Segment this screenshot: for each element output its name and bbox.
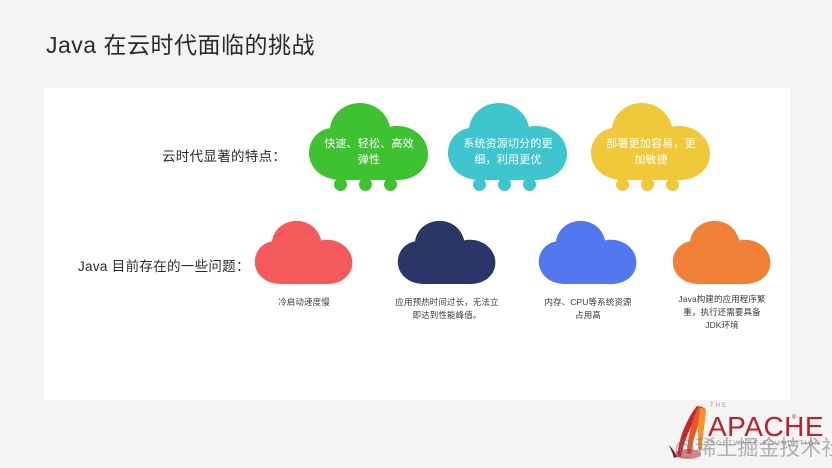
feature-cloud-resource-partition[interactable]: 系统资源切分的更 细，利用更优 — [447, 102, 569, 180]
problems-row-label: Java 目前存在的一些问题： — [78, 255, 250, 275]
problem-caption-heavy-runtime: Java构建的应用程序繁 重，执行还需要具备 JDK环境 — [652, 293, 792, 332]
slide-root: Java 在云时代面临的挑战 云时代显著的特点： Java 目前存在的一些问题：… — [0, 0, 832, 468]
dot — [666, 178, 679, 191]
cloud-shape-icon — [254, 218, 354, 286]
problem-caption-cold-start: 冷启动速度慢 — [244, 296, 364, 309]
dot — [384, 178, 397, 191]
problem-cloud-resource-usage[interactable] — [538, 218, 638, 286]
feature-dots-deployment-agility — [616, 178, 679, 191]
dot — [641, 178, 654, 191]
feature-cloud-elasticity[interactable]: 快速、轻松、高效 弹性 — [308, 102, 430, 180]
problem-cloud-cold-start[interactable] — [254, 218, 354, 286]
cloud-shape-icon — [447, 102, 569, 180]
feature-dots-resource-partition — [473, 178, 536, 191]
problem-cloud-heavy-runtime[interactable] — [672, 218, 772, 286]
dot — [523, 178, 536, 191]
dot — [334, 178, 347, 191]
dot — [616, 178, 629, 191]
dot — [359, 178, 372, 191]
cloud-shape-icon — [672, 218, 772, 286]
problem-cloud-warmup-time[interactable] — [397, 218, 497, 286]
cloud-shape-icon — [538, 218, 638, 286]
dot — [498, 178, 511, 191]
cloud-shape-icon — [397, 218, 497, 286]
apache-trademark: ® — [792, 415, 796, 421]
watermark: @稀土掘金技术社区 — [674, 432, 832, 462]
feature-dots-elasticity — [334, 178, 397, 191]
cloud-shape-icon — [308, 102, 430, 180]
cloud-shape-icon — [590, 102, 712, 180]
content-card: 云时代显著的特点： Java 目前存在的一些问题： 快速、轻松、高效 弹性 系统… — [44, 88, 790, 400]
problem-caption-warmup-time: 应用预热时间过长，无法立 即达到性能峰值。 — [377, 296, 517, 322]
apache-the-label: THE — [710, 403, 728, 409]
dot — [473, 178, 486, 191]
feature-cloud-deployment-agility[interactable]: 部署更加容易，更 加敏捷 — [590, 102, 712, 180]
page-title: Java 在云时代面临的挑战 — [46, 26, 315, 60]
features-row-label: 云时代显著的特点： — [162, 145, 286, 165]
problem-caption-resource-usage: 内存、CPU等系统资源 占用高 — [518, 296, 658, 322]
